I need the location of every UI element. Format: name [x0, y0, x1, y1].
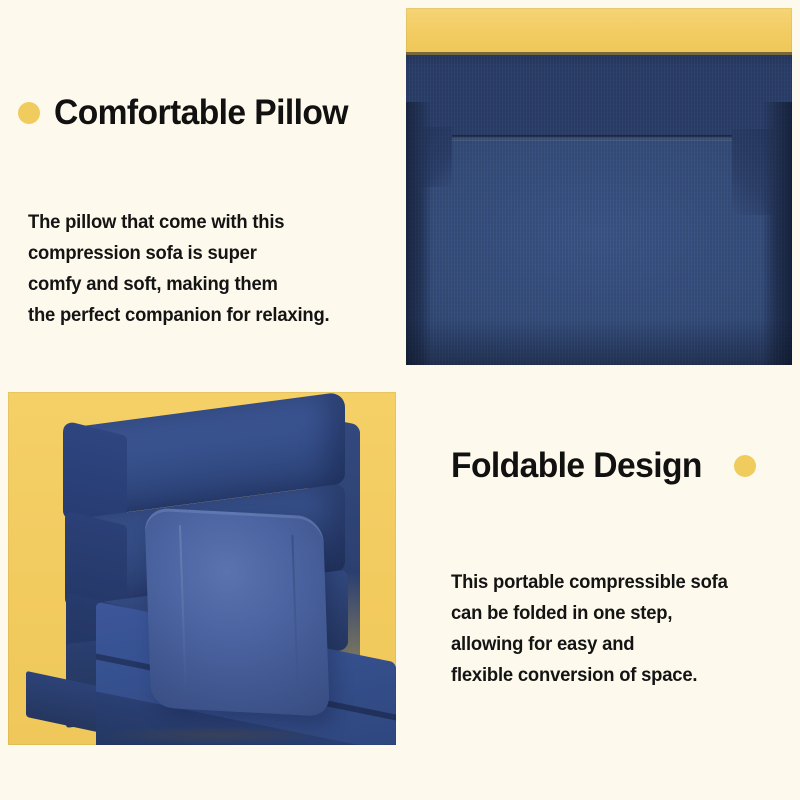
fabric-weave-horizontal — [406, 55, 792, 365]
sofa-ground-shadow — [48, 722, 378, 745]
page-title-pillow: Comfortable Pillow — [54, 95, 348, 130]
sofa-cushion-pillow — [144, 507, 329, 716]
cushion-crease-left — [179, 525, 187, 695]
pillow-heading-row: Comfortable Pillow — [18, 95, 360, 130]
cushion-crease-right — [291, 535, 299, 695]
folded-sofa-photo — [8, 392, 396, 745]
page-title-foldable: Foldable Design — [451, 448, 702, 483]
infographic-canvas: Comfortable Pillow The pillow that come … — [0, 0, 800, 800]
pillow-description: The pillow that come with this compressi… — [28, 207, 329, 331]
foldable-description: This portable compressible sofa can be f… — [451, 567, 728, 691]
foldable-heading-row: Foldable Design — [451, 448, 756, 483]
photo-fabric-body — [406, 55, 792, 365]
bullet-dot-icon — [734, 455, 756, 477]
photo-yellow-band — [406, 8, 792, 55]
pillow-closeup-photo — [406, 8, 792, 365]
bullet-dot-icon — [18, 102, 40, 124]
